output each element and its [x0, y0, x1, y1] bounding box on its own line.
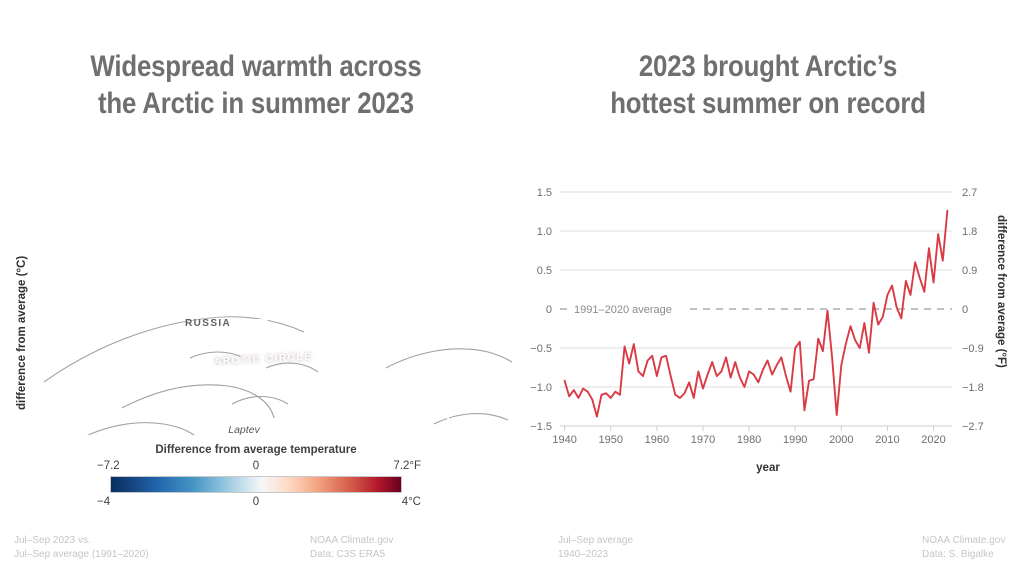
- svg-text:2010: 2010: [875, 434, 899, 446]
- svg-text:0.5: 0.5: [537, 265, 552, 277]
- right-footer-source: Jul–Sep average 1940–2023: [558, 534, 633, 561]
- colorbar-c-high: 4°C: [402, 496, 421, 508]
- arctic-circle-dashed-line: [0, 180, 512, 435]
- chart-plot-area: 1940195019601970198019902000201020201.51…: [512, 180, 1024, 470]
- colorbar-c-mid: 0: [253, 496, 259, 508]
- right-title-line2: hottest summer on record: [548, 85, 988, 122]
- left-title-line2: the Arctic in summer 2023: [36, 85, 476, 122]
- arctic-globe-map: RUSSIA ARCTIC CIRCLE Laptev Sea NORTH PA…: [0, 180, 512, 435]
- svg-text:1.5: 1.5: [537, 187, 552, 199]
- colorbar-title: Difference from average temperature: [0, 444, 512, 456]
- svg-text:2000: 2000: [829, 434, 853, 446]
- svg-text:1991–2020 average: 1991–2020 average: [574, 304, 672, 316]
- colorbar-c-low: −4: [97, 496, 110, 508]
- svg-text:−1.0: −1.0: [530, 382, 552, 394]
- globe-sphere: RUSSIA ARCTIC CIRCLE Laptev Sea NORTH PA…: [0, 180, 512, 435]
- svg-text:1980: 1980: [737, 434, 761, 446]
- right-panel-title: 2023 brought Arctic’s hottest summer on …: [548, 48, 988, 122]
- left-title-line1: Widespread warmth across: [90, 50, 421, 83]
- svg-text:−1.8: −1.8: [962, 382, 984, 394]
- chart-y-axis-title-celsius: difference from average (°C): [16, 256, 28, 410]
- left-footer-credit: NOAA Climate.gov Data: C3S ERA5: [310, 534, 393, 561]
- right-footer-credit: NOAA Climate.gov Data: S. Bigalke: [922, 534, 1005, 561]
- svg-text:1970: 1970: [691, 434, 715, 446]
- left-panel: Widespread warmth across the Arctic in s…: [0, 0, 512, 577]
- colorbar-f-mid: 0: [253, 460, 259, 472]
- map-colorbar-legend: Difference from average temperature −7.2…: [0, 444, 512, 510]
- svg-text:2020: 2020: [921, 434, 945, 446]
- svg-text:−0.5: −0.5: [530, 343, 552, 355]
- right-title-line1: 2023 brought Arctic’s: [639, 50, 897, 83]
- colorbar-gradient: [110, 476, 402, 493]
- svg-text:−2.7: −2.7: [962, 421, 984, 433]
- chart-y-axis-title-fahrenheit: difference from average (°F): [995, 215, 1007, 368]
- colorbar-f-high: 7.2°F: [393, 460, 421, 472]
- chart-x-axis-title: year: [512, 462, 1024, 474]
- temperature-anomaly-line-chart: 1940195019601970198019902000201020201.51…: [512, 180, 1024, 470]
- svg-text:0: 0: [546, 304, 552, 316]
- colorbar-celsius-labels: −4 0 4°C: [111, 496, 401, 510]
- map-label-russia: RUSSIA: [185, 318, 231, 329]
- colorbar-fahrenheit-labels: −7.2 0 7.2°F: [111, 460, 401, 474]
- colorbar-f-low: −7.2: [97, 460, 120, 472]
- svg-text:1940: 1940: [552, 434, 576, 446]
- left-footer-source: Jul–Sep 2023 vs. Jul–Sep average (1991–2…: [14, 534, 149, 561]
- svg-text:0.9: 0.9: [962, 265, 977, 277]
- svg-text:1.8: 1.8: [962, 226, 977, 238]
- svg-text:1950: 1950: [598, 434, 622, 446]
- svg-text:1960: 1960: [645, 434, 669, 446]
- svg-text:2.7: 2.7: [962, 187, 977, 199]
- svg-text:0: 0: [962, 304, 968, 316]
- svg-text:−1.5: −1.5: [530, 421, 552, 433]
- svg-text:1990: 1990: [783, 434, 807, 446]
- svg-text:−0.9: −0.9: [962, 343, 984, 355]
- svg-text:1.0: 1.0: [537, 226, 552, 238]
- left-panel-title: Widespread warmth across the Arctic in s…: [36, 48, 476, 122]
- map-label-laptev-sea-line1: Laptev: [214, 424, 274, 435]
